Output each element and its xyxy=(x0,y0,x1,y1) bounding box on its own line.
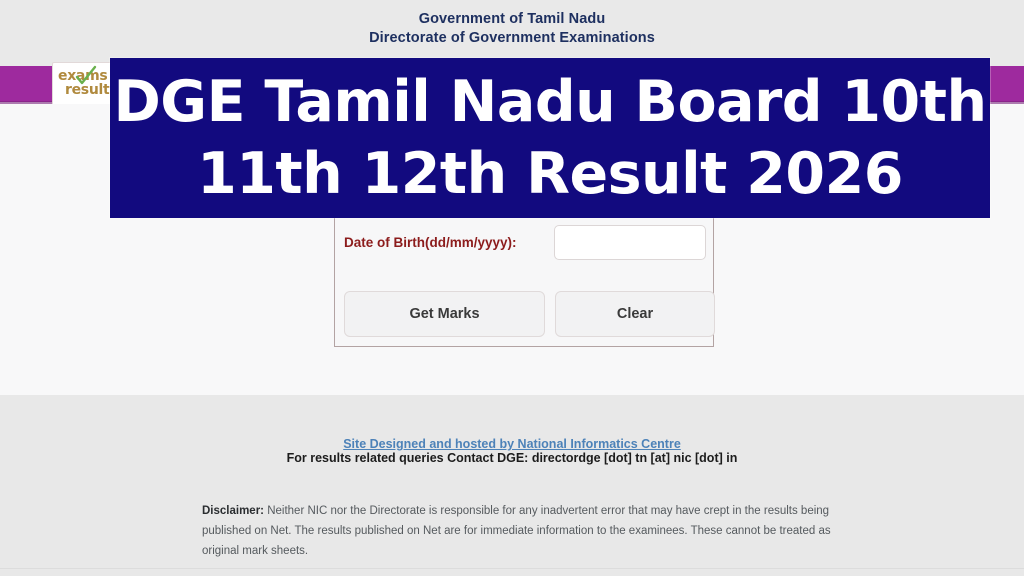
page-footer: Site Designed and hosted by National Inf… xyxy=(0,395,1024,576)
dob-row: Date of Birth(dd/mm/yyyy): xyxy=(335,225,715,265)
site-header-line-1: Government of Tamil Nadu xyxy=(0,10,1024,29)
dob-label: Date of Birth(dd/mm/yyyy): xyxy=(344,235,517,250)
footer-contact-text: For results related queries Contact DGE:… xyxy=(0,451,1024,465)
overlay-title-line-2: 11th 12th Result 2026 xyxy=(197,138,903,210)
site-header: Government of Tamil Nadu Directorate of … xyxy=(0,10,1024,48)
nic-credit-link[interactable]: Site Designed and hosted by National Inf… xyxy=(343,437,681,451)
overlay-title-banner: DGE Tamil Nadu Board 10th 11th 12th Resu… xyxy=(110,58,990,218)
disclaimer-label: Disclaimer: xyxy=(202,505,264,517)
dob-input[interactable] xyxy=(554,225,706,260)
disclaimer-text: Neither NIC nor the Directorate is respo… xyxy=(202,505,831,557)
site-header-line-2: Directorate of Government Examinations xyxy=(0,29,1024,48)
footer-divider xyxy=(0,568,1024,569)
green-check-icon xyxy=(75,65,97,87)
disclaimer-block: Disclaimer: Neither NIC nor the Director… xyxy=(202,501,834,561)
overlay-title-line-1: DGE Tamil Nadu Board 10th xyxy=(113,66,986,138)
site-logo[interactable]: exams result xyxy=(52,62,116,106)
get-marks-button[interactable]: Get Marks xyxy=(344,291,545,337)
clear-button[interactable]: Clear xyxy=(555,291,715,337)
